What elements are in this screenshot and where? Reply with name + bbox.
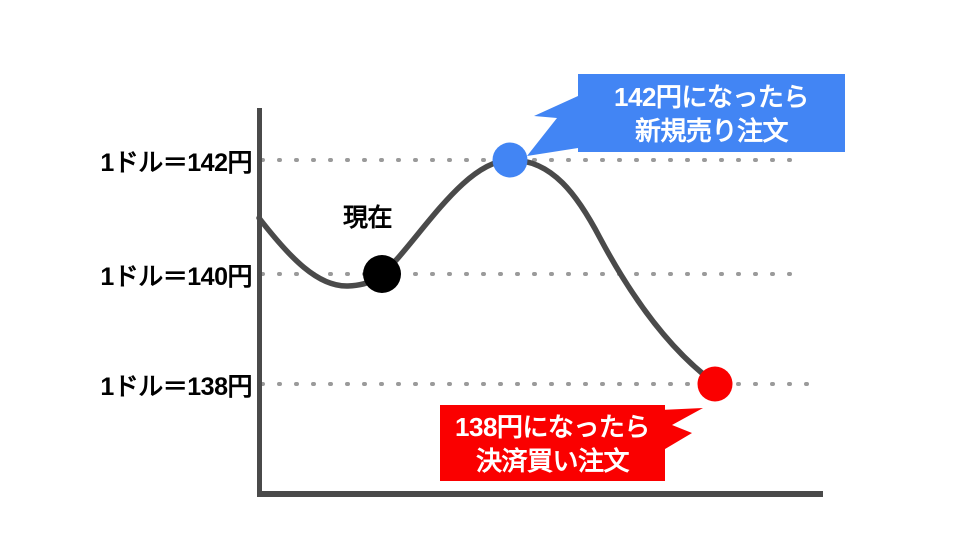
blue-callout-line1: 142円になったら	[578, 80, 845, 114]
marker-buy-close-dot	[698, 367, 733, 402]
rate-curve	[259, 160, 716, 384]
red-callout-line1: 138円になったら	[440, 410, 665, 444]
blue-callout-line2: 新規売り注文	[578, 114, 845, 148]
marker-current-dot	[363, 255, 401, 293]
axis-tick-label-142: 1ドル＝142円	[42, 143, 252, 179]
red-callout-label: 138円になったら 決済買い注文	[440, 410, 665, 478]
red-callout-tail	[660, 408, 703, 452]
blue-callout-label: 142円になったら 新規売り注文	[578, 80, 845, 148]
blue-callout-tail	[527, 96, 578, 156]
marker-sell-entry-dot	[493, 143, 528, 178]
current-marker-label: 現在	[343, 198, 392, 234]
diagram-canvas: 1ドル＝142円 1ドル＝140円 1ドル＝138円 現在 142円になったら …	[0, 0, 960, 540]
axis-tick-label-138: 1ドル＝138円	[42, 367, 252, 403]
axis-tick-label-140: 1ドル＝140円	[42, 257, 252, 293]
red-callout-line2: 決済買い注文	[440, 444, 665, 478]
